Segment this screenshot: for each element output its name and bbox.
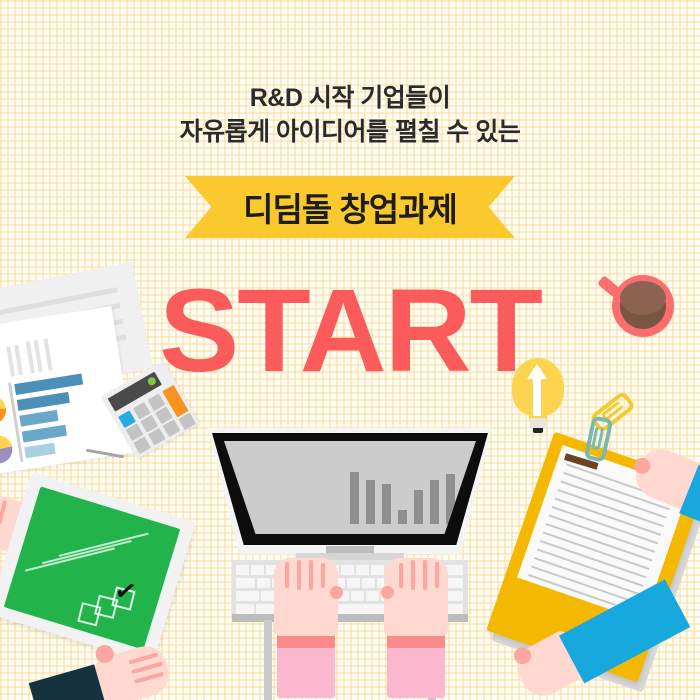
poster-canvas: ✓: [0, 0, 700, 700]
finger-line: [297, 560, 301, 590]
finger-line: [321, 563, 325, 588]
screen-bar-4: [398, 510, 407, 524]
finger-line: [285, 562, 289, 588]
screen-bar-1: [350, 472, 359, 524]
start-title: START: [0, 272, 700, 390]
screen-bar-6: [430, 480, 439, 524]
headline-line-2: 자유롭게 아이디어를 펼칠 수 있는: [0, 116, 700, 150]
checkmark-icon: ✓: [113, 576, 139, 606]
screen-bar-3: [382, 484, 391, 524]
screen-bar-2: [366, 480, 375, 524]
h-bar-2: [17, 392, 70, 411]
thumb: [381, 586, 394, 599]
finger-line: [411, 560, 415, 590]
finger-line: [399, 563, 403, 588]
h-bar-3: [19, 410, 58, 427]
ribbon-label: 디딤돌 창업과제: [185, 176, 515, 238]
finger-line: [309, 560, 313, 590]
monitor-screen: [224, 441, 476, 534]
headline-line-1: R&D 시작 기업들이: [0, 82, 700, 116]
desktop-monitor: [208, 428, 492, 554]
h-bar-4: [22, 425, 67, 443]
keyboard-support-left: [264, 620, 272, 700]
typing-hand-right: [382, 558, 452, 698]
ribbon-banner: 디딤돌 창업과제: [185, 176, 515, 238]
h-bar-5: [24, 443, 55, 459]
headline: R&D 시작 기업들이 자유롭게 아이디어를 펼칠 수 있는: [0, 82, 700, 149]
pie-chart-2: [0, 394, 8, 426]
finger-line: [423, 560, 427, 590]
screen-bar-5: [414, 490, 423, 524]
typing-hand-left: [272, 558, 342, 698]
pie-chart-3: [0, 433, 14, 465]
finger-line: [435, 562, 439, 588]
thumb: [330, 586, 343, 599]
